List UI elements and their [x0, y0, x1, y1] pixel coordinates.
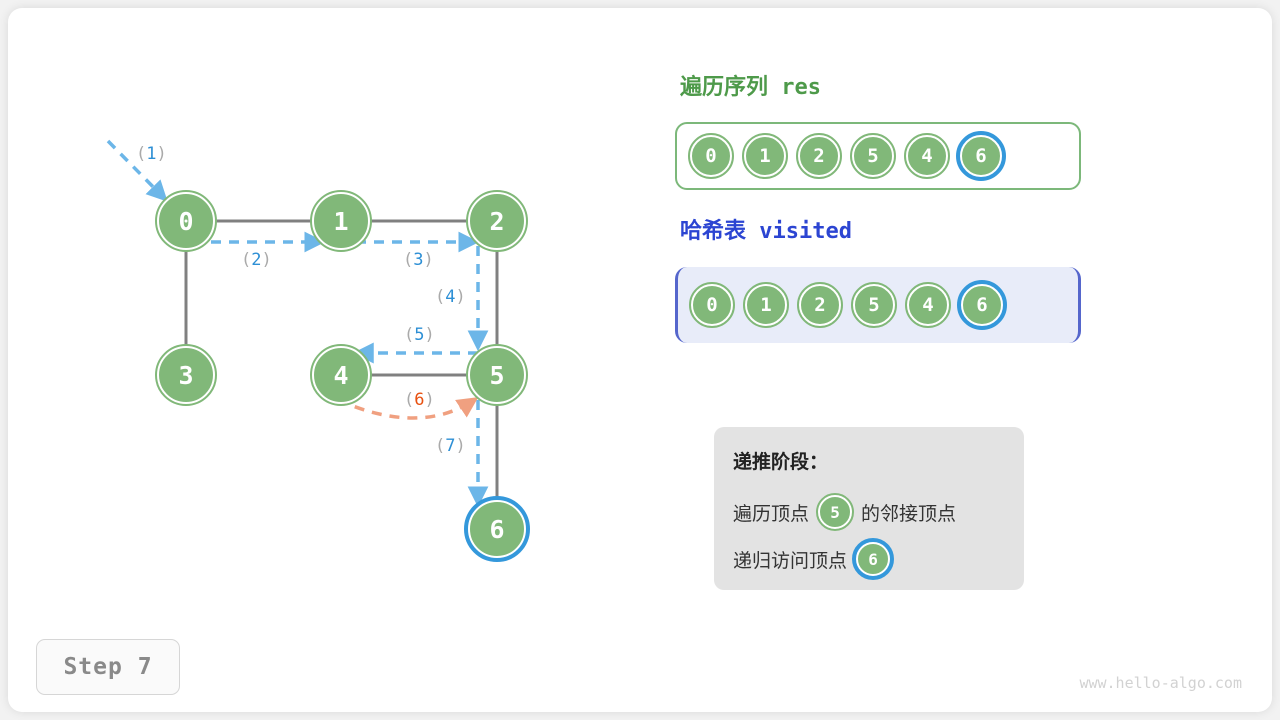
paren-open: (	[403, 250, 413, 270]
step-label-1: (1)	[136, 144, 167, 164]
explanation-node-6-label: 6	[868, 550, 878, 569]
res-cells: 0 1 2 5 4 6	[690, 124, 1002, 188]
paren-close: )	[425, 390, 435, 410]
graph-node-2-label: 2	[489, 209, 504, 234]
visited-cell-1-label: 1	[760, 294, 771, 316]
visited-cell-5[interactable]: 6	[961, 284, 1003, 326]
graph-node-0[interactable]: 0	[157, 192, 215, 250]
step-label-5: (5)	[404, 325, 435, 345]
graph-node-4-label: 4	[333, 363, 348, 388]
explanation-node-5-label: 5	[830, 503, 840, 522]
res-cell-2[interactable]: 2	[798, 135, 840, 177]
res-cell-1-label: 1	[759, 145, 770, 167]
visited-cells: 0 1 2 5 4 6	[691, 267, 1003, 343]
visited-cell-3-label: 5	[868, 294, 879, 316]
graph-panel: 0 1 2 3 4 5 6 (1) (2) (3) (4)	[8, 8, 648, 712]
explanation-box: 递推阶段： 遍历顶点 5 的邻接顶点 递归访问顶点 6	[714, 427, 1024, 590]
explanation-node-5[interactable]: 5	[818, 495, 852, 529]
graph-node-5[interactable]: 5	[468, 346, 526, 404]
paren-close: )	[262, 250, 272, 270]
step-number: 3	[413, 250, 423, 270]
explanation-line-1-after: 的邻接顶点	[861, 499, 956, 526]
res-cell-3-label: 5	[867, 145, 878, 167]
res-array-box: 0 1 2 5 4 6	[675, 122, 1081, 190]
graph-node-0-label: 0	[178, 209, 193, 234]
paren-open: (	[404, 325, 414, 345]
res-cell-1[interactable]: 1	[744, 135, 786, 177]
graph-node-5-label: 5	[489, 363, 504, 388]
graph-node-1-label: 1	[333, 209, 348, 234]
paren-open: (	[404, 390, 414, 410]
graph-node-6[interactable]: 6	[468, 500, 526, 558]
paren-close: )	[456, 287, 466, 307]
explanation-line-2-before: 递归访问顶点	[733, 546, 847, 573]
step-number: 2	[251, 250, 261, 270]
res-cell-4-label: 4	[921, 145, 932, 167]
visited-title: 哈希表 visited	[680, 213, 852, 245]
step-label-7: (7)	[435, 436, 466, 456]
paren-close: )	[157, 144, 167, 164]
slide-canvas: 0 1 2 3 4 5 6 (1) (2) (3) (4)	[8, 8, 1272, 712]
explanation-line-2: 递归访问顶点 6	[733, 542, 899, 576]
visited-cell-2[interactable]: 2	[799, 284, 841, 326]
graph-node-3[interactable]: 3	[157, 346, 215, 404]
graph-node-1[interactable]: 1	[312, 192, 370, 250]
step-label-3: (3)	[403, 250, 434, 270]
step-badge: Step 7	[36, 639, 180, 695]
paren-open: (	[435, 436, 445, 456]
res-cell-4[interactable]: 4	[906, 135, 948, 177]
step-number: 6	[414, 390, 424, 410]
explanation-line-1: 遍历顶点 5 的邻接顶点	[733, 495, 956, 529]
res-cell-0[interactable]: 0	[690, 135, 732, 177]
step-number: 5	[414, 325, 424, 345]
paren-open: (	[435, 287, 445, 307]
step-label-4: (4)	[435, 287, 466, 307]
res-title: 遍历序列 res	[680, 69, 821, 101]
right-panel: 遍历序列 res 0 1 2 5 4 6	[668, 8, 1272, 712]
step-number: 7	[445, 436, 455, 456]
explanation-node-6[interactable]: 6	[856, 542, 890, 576]
res-cell-3[interactable]: 5	[852, 135, 894, 177]
visited-cell-2-label: 2	[814, 294, 825, 316]
step-label-6: (6)	[404, 390, 435, 410]
visited-cell-0-label: 0	[706, 294, 717, 316]
paren-close: )	[424, 250, 434, 270]
visited-cell-1[interactable]: 1	[745, 284, 787, 326]
graph-node-3-label: 3	[178, 363, 193, 388]
res-cell-5[interactable]: 6	[960, 135, 1002, 177]
visited-cell-4-label: 4	[922, 294, 933, 316]
step-number: 4	[445, 287, 455, 307]
graph-node-6-label: 6	[489, 517, 504, 542]
res-cell-2-label: 2	[813, 145, 824, 167]
visited-cell-5-label: 6	[976, 294, 987, 316]
graph-node-4[interactable]: 4	[312, 346, 370, 404]
step-label-2: (2)	[241, 250, 272, 270]
explanation-heading: 递推阶段：	[733, 447, 828, 474]
visited-cell-0[interactable]: 0	[691, 284, 733, 326]
visited-hash-box: 0 1 2 5 4 6	[675, 267, 1081, 343]
explanation-line-1-before: 遍历顶点	[733, 499, 809, 526]
watermark: www.hello-algo.com	[1079, 674, 1242, 692]
visited-cell-4[interactable]: 4	[907, 284, 949, 326]
paren-close: )	[425, 325, 435, 345]
graph-node-2[interactable]: 2	[468, 192, 526, 250]
res-cell-0-label: 0	[705, 145, 716, 167]
res-cell-5-label: 6	[975, 145, 986, 167]
paren-open: (	[241, 250, 251, 270]
step-number: 1	[146, 144, 156, 164]
paren-close: )	[456, 436, 466, 456]
visited-cell-3[interactable]: 5	[853, 284, 895, 326]
paren-open: (	[136, 144, 146, 164]
